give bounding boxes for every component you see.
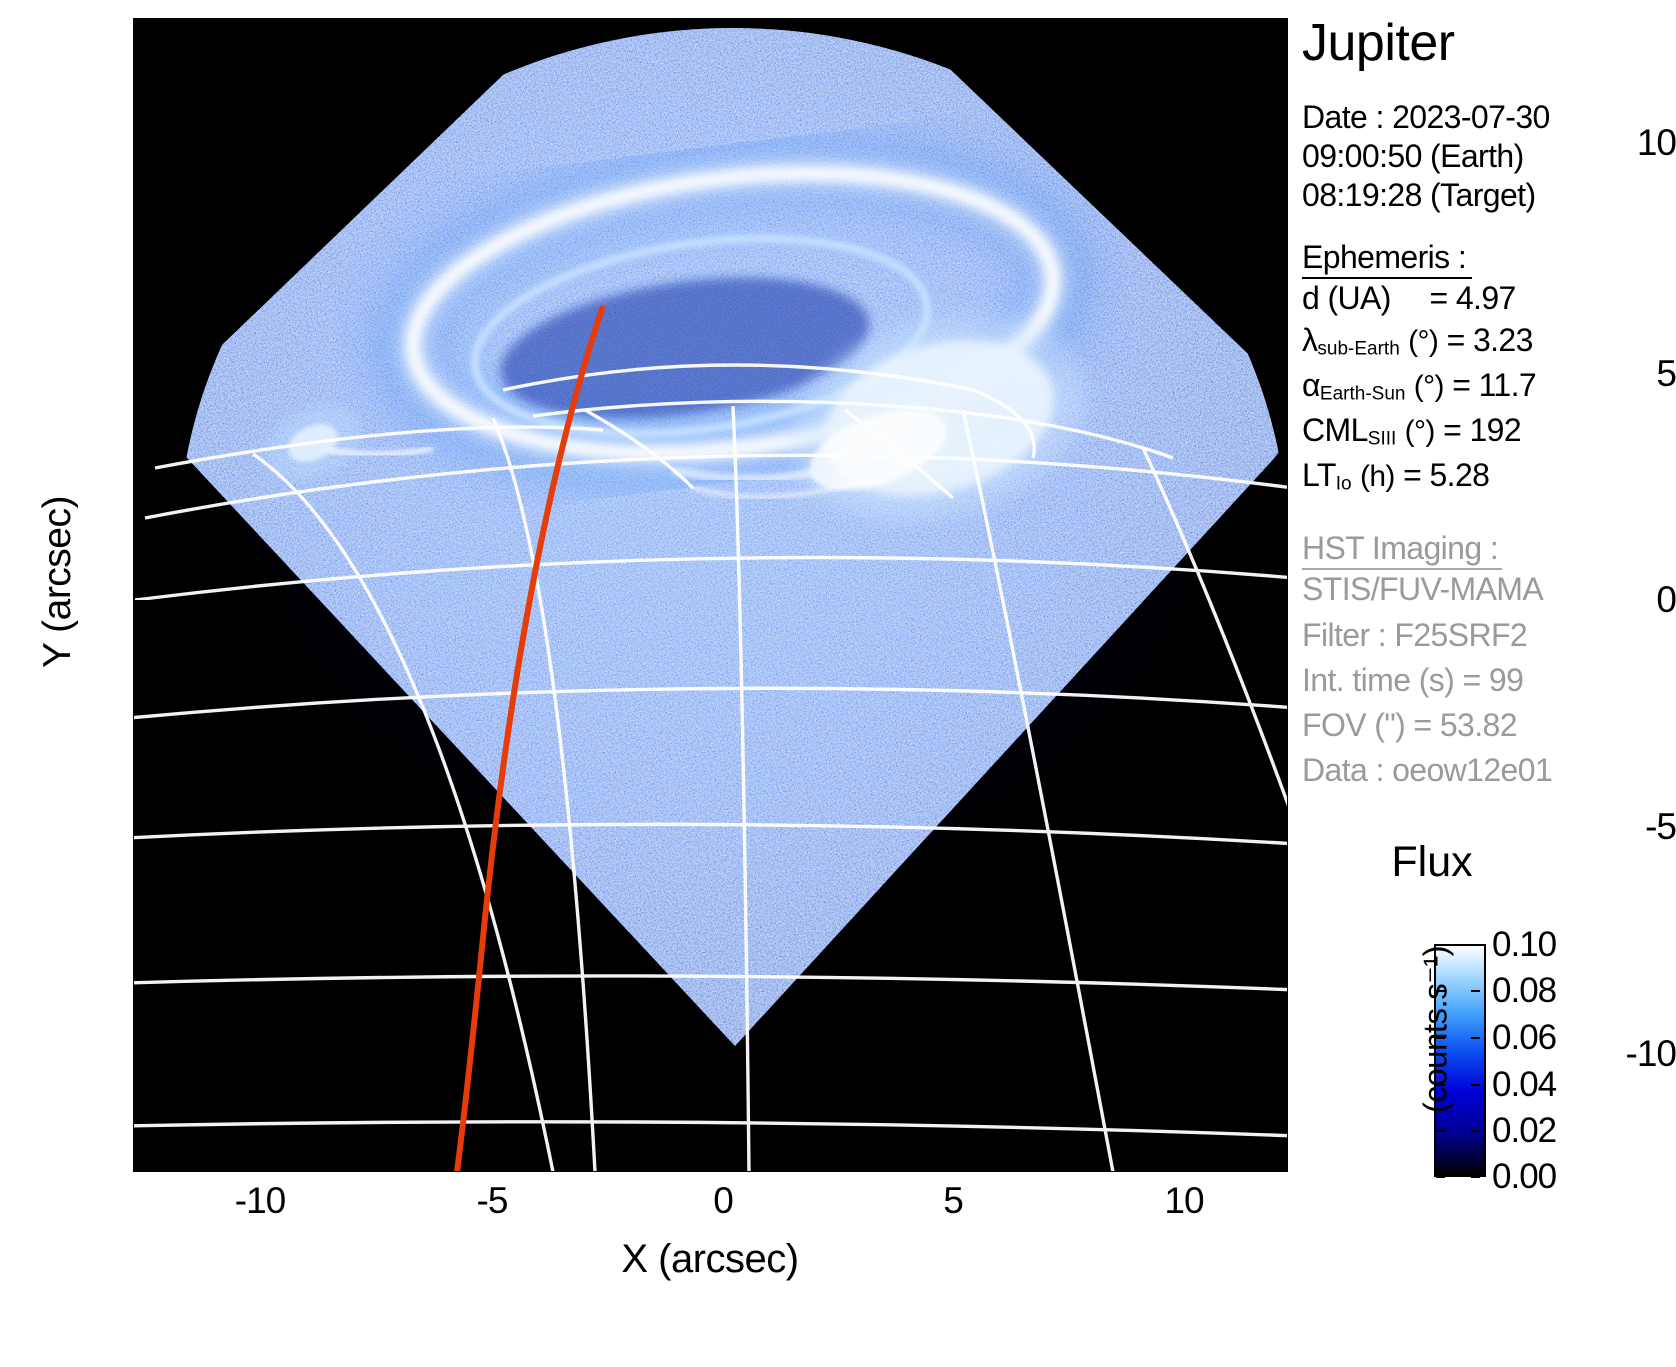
lt-value: = 5.28 xyxy=(1403,457,1489,493)
ephemeris-sub-earth-latitude: λsub-Earth (°) = 3.23 xyxy=(1302,322,1533,360)
colorbar-tick-label: 0.00 xyxy=(1492,1157,1556,1197)
colorbar-units-label: (counts.s⁻¹) xyxy=(1416,900,1455,1160)
ephemeris-cml: CMLSIII (°) = 192 xyxy=(1302,412,1521,450)
lt-subscript: Io xyxy=(1336,473,1352,494)
page-title: Jupiter xyxy=(1302,13,1455,73)
hst-imaging-divider xyxy=(1302,568,1502,570)
observation-time-earth: 09:00:50 (Earth) xyxy=(1302,138,1524,175)
y-axis-title: Y (arcsec) xyxy=(36,432,80,732)
hst-fov: FOV (") = 53.82 xyxy=(1302,707,1517,744)
x-axis-title: X (arcsec) xyxy=(430,1237,990,1282)
alpha-value: = 11.7 xyxy=(1452,367,1536,403)
alpha-symbol: α xyxy=(1302,367,1320,403)
hst-int-time: Int. time (s) = 99 xyxy=(1302,662,1523,699)
colorbar-tick-label: 0.10 xyxy=(1492,925,1556,965)
lt-unit: (h) xyxy=(1360,460,1395,493)
colorbar-tick-label: 0.06 xyxy=(1492,1018,1556,1058)
ephemeris-phase-angle: αEarth-Sun (°) = 11.7 xyxy=(1302,367,1536,405)
x-tick-label: 10 xyxy=(1104,1182,1264,1219)
x-tick-label: -10 xyxy=(180,1182,340,1219)
ephemeris-divider xyxy=(1302,277,1472,279)
ephemeris-distance-label: d (UA) xyxy=(1302,280,1391,316)
cml-subscript: SIII xyxy=(1368,428,1397,449)
colorbar-tick-label: 0.08 xyxy=(1492,971,1556,1011)
lambda-symbol: λ xyxy=(1302,322,1317,358)
hst-data-id: Data : oeow12e01 xyxy=(1302,752,1552,789)
info-panel: Jupiter Date : 2023-07-30 09:00:50 (Eart… xyxy=(1300,0,1676,1367)
lambda-value: = 3.23 xyxy=(1447,322,1533,358)
cml-symbol: CML xyxy=(1302,412,1368,448)
observation-time-target: 08:19:28 (Target) xyxy=(1302,177,1536,214)
y-tickmark xyxy=(133,600,149,603)
y-tickmark xyxy=(133,827,149,830)
ephemeris-distance: d (UA) = 4.97 xyxy=(1302,280,1516,317)
colorbar-title: Flux xyxy=(1332,838,1532,887)
observation-date: Date : 2023-07-30 xyxy=(1302,99,1550,136)
hst-instrument: STIS/FUV-MAMA xyxy=(1302,571,1543,608)
jupiter-aurora-image xyxy=(133,18,1288,1172)
ephemeris-heading: Ephemeris : xyxy=(1302,239,1466,276)
x-tick-label: 0 xyxy=(643,1182,803,1219)
lambda-subscript: sub-Earth xyxy=(1317,338,1399,359)
alpha-subscript: Earth-Sun xyxy=(1320,383,1406,404)
colorbar-tick-label: 0.02 xyxy=(1492,1111,1556,1151)
hst-imaging-heading: HST Imaging : xyxy=(1302,530,1498,567)
x-tick-label: 5 xyxy=(873,1182,1033,1219)
lambda-unit: (°) xyxy=(1408,325,1438,358)
alpha-unit: (°) xyxy=(1414,370,1444,403)
lt-symbol: LT xyxy=(1302,457,1336,493)
hst-filter: Filter : F25SRF2 xyxy=(1302,617,1527,654)
ephemeris-distance-value: = 4.97 xyxy=(1429,280,1515,316)
cml-value: = 192 xyxy=(1443,412,1521,448)
ephemeris-io-local-time: LTIo (h) = 5.28 xyxy=(1302,457,1489,495)
colorbar-tick-label: 0.04 xyxy=(1492,1065,1556,1105)
y-tickmark xyxy=(133,1054,149,1057)
y-tickmark xyxy=(133,374,149,377)
y-tickmark xyxy=(133,143,149,146)
x-tick-label: -5 xyxy=(412,1182,572,1219)
aurora-map-svg xyxy=(133,18,1288,1172)
cml-unit: (°) xyxy=(1405,415,1435,448)
